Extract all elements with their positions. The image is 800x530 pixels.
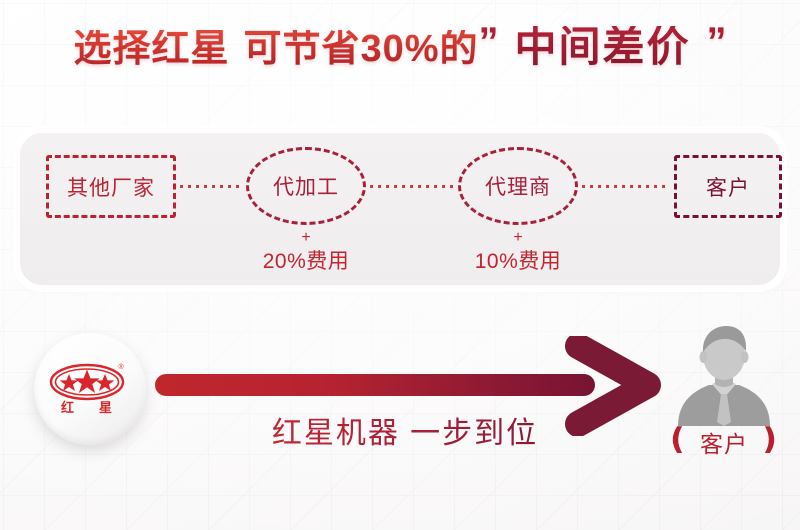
middleman-chain-panel: 其他厂家 代加工 代理商 客户 + 20%费用 + 10%费用 <box>20 133 780 285</box>
chain-node-label: 客户 <box>706 172 750 202</box>
quote-close-mark: ” <box>707 22 727 62</box>
chain-node-oem-processing: 代加工 <box>246 147 366 225</box>
headline-emphasis: 中间差价 <box>515 26 691 68</box>
headline-part2: 可节省30%的 <box>243 30 478 68</box>
chain-node-label: 代加工 <box>273 171 339 201</box>
registered-mark: ® <box>119 363 125 371</box>
chain-connector-1 <box>180 185 242 188</box>
page-title: 选择红星可节省30%的”中间差价” <box>0 26 800 68</box>
fee-amount: 10%费用 <box>438 251 598 273</box>
hongxing-logo-icon: ® 红 星 <box>47 359 133 419</box>
fee-plus-sign: + <box>438 230 598 247</box>
bracket-right-icon: ❫ <box>757 425 783 455</box>
fee-amount: 20%费用 <box>226 251 386 273</box>
chain-node-label: 其他厂家 <box>67 172 155 202</box>
customer-label: ❪ 客户 ❫ <box>650 424 798 460</box>
promo-banner: 选择红星可节省30%的”中间差价” 其他厂家 代加工 代理商 客户 + 20%费… <box>0 0 800 530</box>
logo-char-right: 星 <box>99 400 112 415</box>
chain-node-end-customer: 客户 <box>674 155 782 218</box>
fee-markup-oem: + 20%费用 <box>226 230 386 273</box>
fee-plus-sign: + <box>226 230 386 247</box>
tagline-text: 红星机器 一步到位 <box>190 408 620 452</box>
logo-char-left: 红 <box>61 400 74 415</box>
chain-connector-3 <box>582 185 670 188</box>
headline-part1: 选择红星 <box>73 30 229 68</box>
businessman-silhouette-icon <box>668 326 780 426</box>
chain-node-agent-dealer: 代理商 <box>458 147 578 225</box>
chain-connector-2 <box>370 185 454 188</box>
fee-markup-agent: + 10%费用 <box>438 230 598 273</box>
chain-node-other-manufacturer: 其他厂家 <box>46 155 176 218</box>
chain-node-label: 代理商 <box>485 171 551 201</box>
quote-open-mark: ” <box>479 22 499 62</box>
customer-avatar <box>668 326 780 426</box>
customer-label-text: 客户 <box>700 425 748 459</box>
hongxing-logo-badge: ® 红 星 <box>34 333 146 445</box>
bracket-left-icon: ❪ <box>665 425 691 455</box>
